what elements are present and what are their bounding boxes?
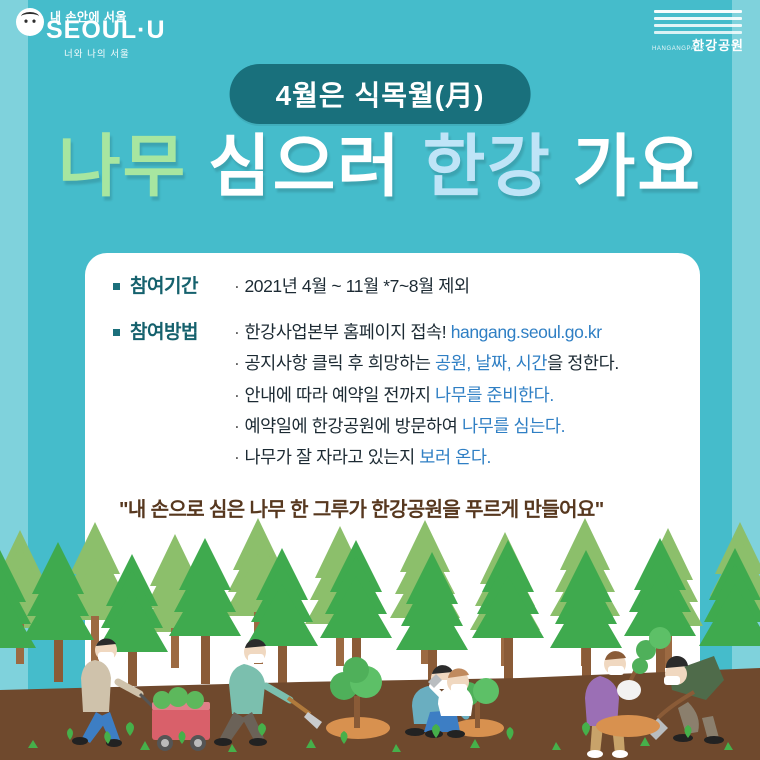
method-line-highlight: 나무를 준비한다. bbox=[435, 385, 554, 405]
line-dot: · bbox=[234, 276, 239, 296]
hangang-logo-korean: 한강공원 bbox=[692, 35, 744, 54]
headline-part-3: 한강 bbox=[423, 129, 552, 205]
method-line: ·나무가 잘 자라고 있는지 보러 온다. bbox=[234, 442, 682, 473]
method-line-highlight: 나무를 심는다. bbox=[462, 416, 565, 436]
method-line-post: 을 정한다. bbox=[547, 353, 619, 373]
line-dot: · bbox=[234, 353, 239, 373]
seoul-face-icon bbox=[16, 8, 44, 36]
method-line-pre: 예약일에 한강공원에 방문하여 bbox=[244, 416, 462, 436]
method-line: ·안내에 따라 예약일 전까지 나무를 준비한다. bbox=[234, 380, 682, 411]
square-bullet-icon bbox=[113, 329, 120, 336]
method-line: ·예약일에 한강공원에 방문하여 나무를 심는다. bbox=[234, 411, 682, 442]
hangang-park-logo: HANGANGPARK 한강공원 bbox=[650, 8, 746, 54]
period-lines: ·2021년 4월 ~ 11월 *7~8월 제외 bbox=[234, 271, 682, 302]
period-label: 참여기간 bbox=[130, 271, 234, 303]
headline-part-4: 가요 bbox=[573, 129, 702, 205]
period-line-text: 2021년 4월 ~ 11월 *7~8월 제외 bbox=[244, 276, 469, 296]
seoul-logo-subtitle: 너와 나의 서울 bbox=[64, 46, 130, 60]
seoul-logo-wordmark: SEOUL·U bbox=[46, 18, 166, 43]
method-line-highlight: 보러 온다. bbox=[419, 447, 491, 467]
period-row: 참여기간 ·2021년 4월 ~ 11월 *7~8월 제외 bbox=[113, 271, 682, 303]
seoul-logo: 내 손안에 서울 SEOUL·U 너와 나의 서울 bbox=[10, 4, 190, 56]
method-line-pre: 공지사항 클릭 후 희망하는 bbox=[244, 353, 435, 373]
method-line: ·한강사업본부 홈페이지 접속! hangang.seoul.go.kr bbox=[234, 317, 682, 348]
method-line-link[interactable]: hangang.seoul.go.kr bbox=[451, 322, 602, 342]
period-line: ·2021년 4월 ~ 11월 *7~8월 제외 bbox=[234, 271, 682, 302]
method-line-pre: 나무가 잘 자라고 있는지 bbox=[244, 447, 419, 467]
scene-svg bbox=[0, 500, 760, 760]
method-line: ·공지사항 클릭 후 희망하는 공원, 날짜, 시간을 정한다. bbox=[234, 348, 682, 379]
method-line-pre: 한강사업본부 홈페이지 접속! bbox=[244, 322, 450, 342]
line-dot: · bbox=[234, 322, 239, 342]
hangang-bars-icon bbox=[654, 10, 742, 38]
headline-part-2: 심으러 bbox=[208, 129, 402, 205]
square-bullet-icon bbox=[113, 283, 120, 290]
page-title: 나무 심으러 한강 가요 bbox=[0, 133, 760, 201]
method-line-highlight: 공원, 날짜, 시간 bbox=[435, 353, 547, 373]
month-badge: 4월은 식목월(月) bbox=[230, 64, 531, 124]
line-dot: · bbox=[234, 385, 239, 405]
method-label: 참여방법 bbox=[130, 317, 234, 349]
method-lines: ·한강사업본부 홈페이지 접속! hangang.seoul.go.kr ·공지… bbox=[234, 317, 682, 473]
headline-part-1: 나무 bbox=[58, 129, 187, 205]
method-line-pre: 안내에 따라 예약일 전까지 bbox=[244, 385, 435, 405]
line-dot: · bbox=[234, 416, 239, 436]
method-row: 참여방법 ·한강사업본부 홈페이지 접속! hangang.seoul.go.k… bbox=[113, 317, 682, 473]
poster: 내 손안에 서울 SEOUL·U 너와 나의 서울 HANGANGPARK 한강… bbox=[0, 0, 760, 760]
planting-illustration bbox=[0, 500, 760, 760]
line-dot: · bbox=[234, 447, 239, 467]
